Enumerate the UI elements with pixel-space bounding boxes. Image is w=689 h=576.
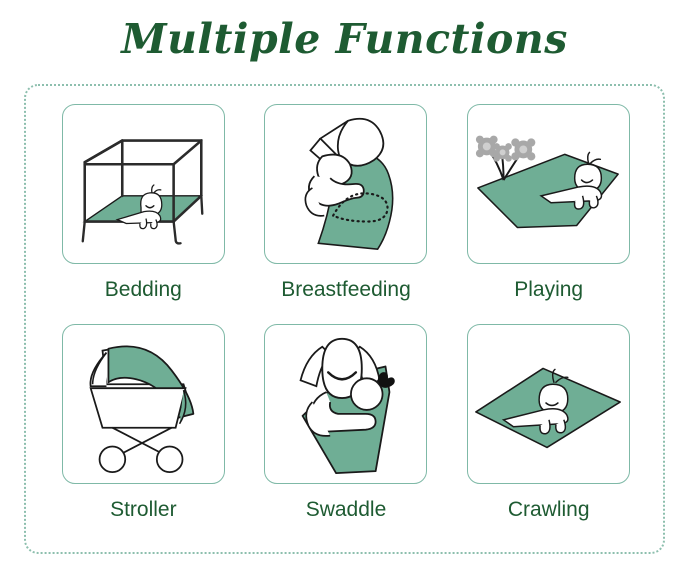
playmat-flowers-icon [468,104,629,264]
panel-crawling[interactable]: Crawling [451,324,646,540]
panel-label: Swaddle [306,498,387,522]
panel-card[interactable] [467,104,630,264]
panel-label: Stroller [110,498,177,522]
poster-canvas: Multiple Functions [0,0,689,576]
swaddle-icon [265,324,426,484]
panel-playing[interactable]: Playing [451,104,646,320]
functions-grid: Bedding Breastfeeding [46,104,646,540]
panel-label: Breastfeeding [281,278,411,302]
panel-label: Crawling [508,498,590,522]
stroller-icon [63,324,224,484]
panel-card[interactable] [264,324,427,484]
breastfeeding-icon [265,104,426,264]
crawling-mat-icon [468,324,629,484]
panel-swaddle[interactable]: Swaddle [249,324,444,540]
panel-label: Playing [514,278,583,302]
panel-card[interactable] [62,324,225,484]
crib-icon [63,104,224,264]
panel-label: Bedding [105,278,182,302]
panel-stroller[interactable]: Stroller [46,324,241,540]
panel-bedding[interactable]: Bedding [46,104,241,320]
panel-card[interactable] [467,324,630,484]
panel-card[interactable] [62,104,225,264]
page-title: Multiple Functions [0,14,689,64]
panel-breastfeeding[interactable]: Breastfeeding [249,104,444,320]
panel-card[interactable] [264,104,427,264]
